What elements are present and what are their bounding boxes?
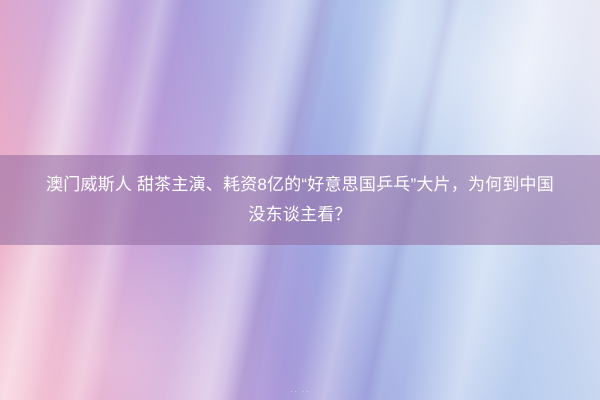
caption-band: 澳门威斯人 甜茶主演、耗资8亿的“好意思国乒乓”大片，为何到中国没东谈主看？ xyxy=(0,155,600,245)
promo-banner: 澳门威斯人 甜茶主演、耗资8亿的“好意思国乒乓”大片，为何到中国没东谈主看？ ·… xyxy=(0,0,600,400)
caption-headline: 澳门威斯人 甜茶主演、耗资8亿的“好意思国乒乓”大片，为何到中国没东谈主看？ xyxy=(40,170,560,230)
glow-bottom-left xyxy=(0,220,260,400)
watermark-text: ·· ·· xyxy=(0,386,600,396)
